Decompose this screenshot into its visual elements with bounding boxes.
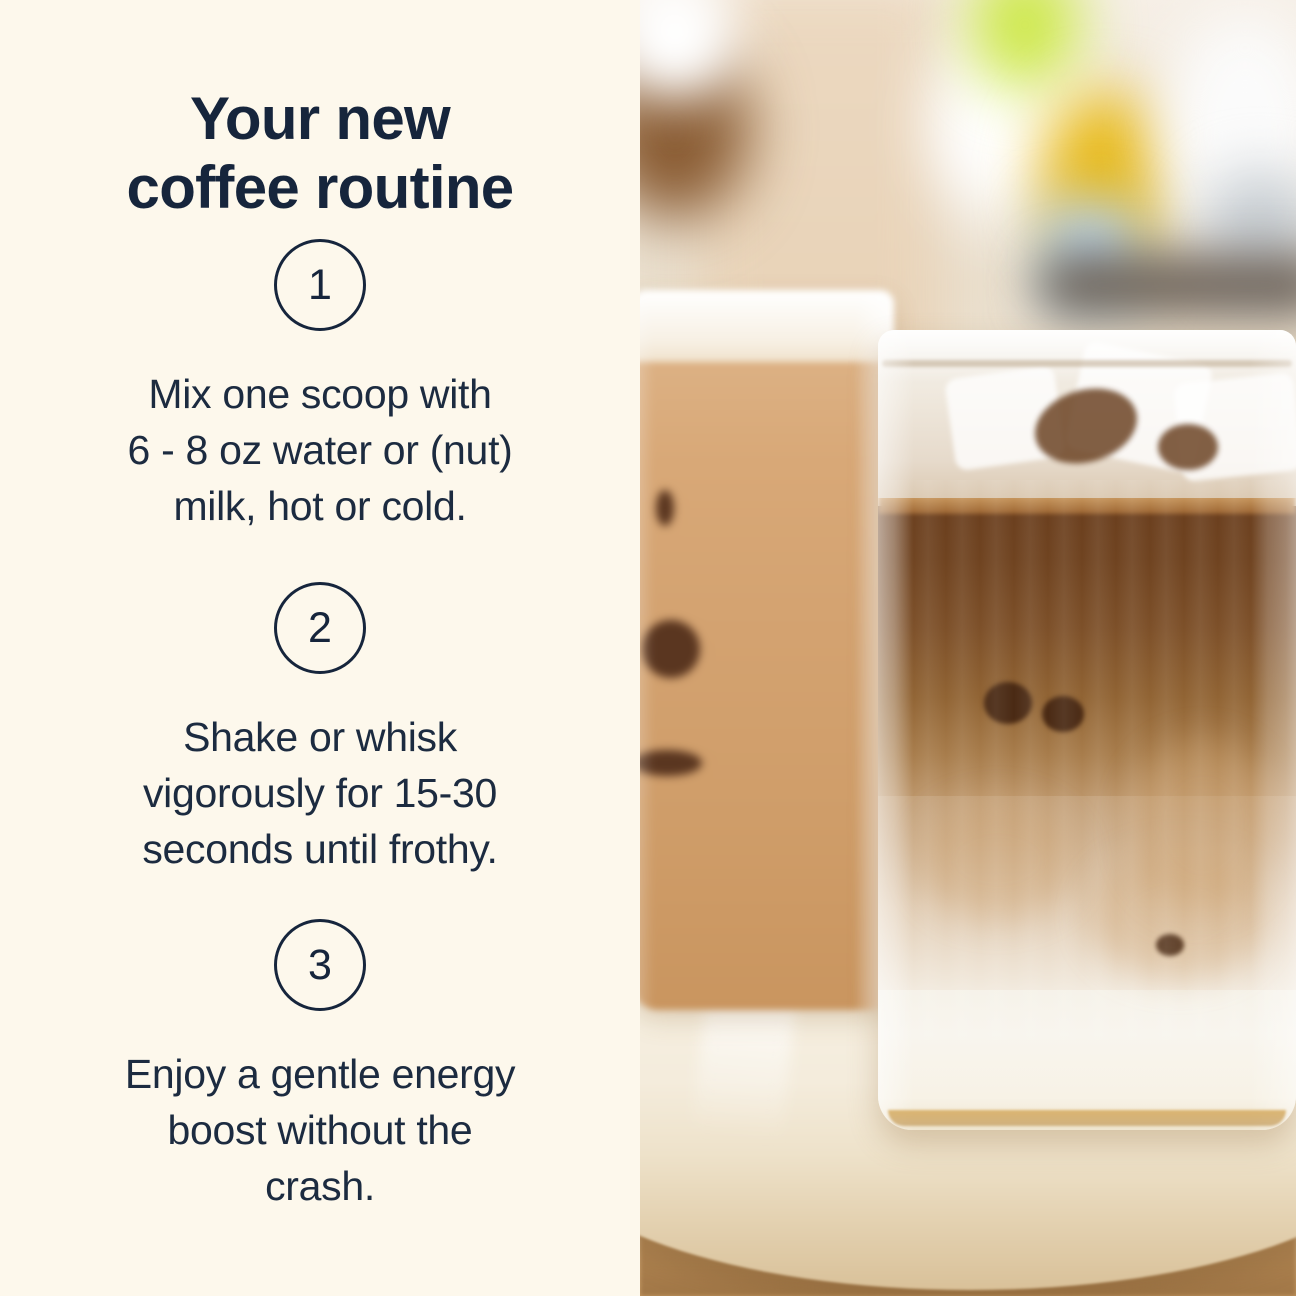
step-description-3-line-3: crash. — [85, 1158, 555, 1214]
step-description-1-line-3: milk, hot or cold. — [85, 478, 555, 534]
poster-canvas: Your new coffee routine 1 Mix one scoop … — [0, 0, 1296, 1296]
page-title-line-1: Your new — [0, 84, 640, 153]
photo-front-glass-left-highlight — [878, 330, 914, 1130]
step-description-2-line-3: seconds until frothy. — [85, 821, 555, 877]
photo-ice-coffee-shadow — [1158, 424, 1218, 470]
step-description-1-line-2: 6 - 8 oz water or (nut) — [85, 422, 555, 478]
step-description-2: Shake or whisk vigorously for 15-30 seco… — [85, 709, 555, 877]
step-number-badge-2: 2 — [274, 582, 366, 674]
page-title-line-2: coffee routine — [0, 153, 640, 222]
step-description-3-line-2: boost without the — [85, 1102, 555, 1158]
step-description-3-line-1: Enjoy a gentle energy — [85, 1046, 555, 1102]
photo-back-glass-left-highlight — [640, 290, 654, 1010]
instructions-panel: Your new coffee routine 1 Mix one scoop … — [0, 0, 640, 1296]
step-item-1: 1 Mix one scoop with 6 - 8 oz water or (… — [0, 239, 640, 534]
photo-front-glass-base — [888, 1110, 1286, 1126]
step-description-1-line-1: Mix one scoop with — [85, 366, 555, 422]
step-item-3: 3 Enjoy a gentle energy boost without th… — [0, 919, 640, 1214]
photo-glass-vertical-streaks — [878, 480, 1296, 1040]
photo-front-glass-rim — [878, 330, 1296, 382]
step-description-2-line-1: Shake or whisk — [85, 709, 555, 765]
step-description-1: Mix one scoop with 6 - 8 oz water or (nu… — [85, 366, 555, 534]
step-number-badge-1: 1 — [274, 239, 366, 331]
step-number-badge-3: 3 — [274, 919, 366, 1011]
step-description-3: Enjoy a gentle energy boost without the … — [85, 1046, 555, 1214]
photo-coffee-bean-spot — [656, 490, 674, 526]
step-item-2: 2 Shake or whisk vigorously for 15-30 se… — [0, 582, 640, 877]
step-description-2-line-2: vigorously for 15-30 — [85, 765, 555, 821]
product-photo — [640, 0, 1296, 1296]
photo-front-glass-right-highlight — [1250, 330, 1296, 1130]
photo-back-latte-glass — [640, 290, 894, 1010]
photo-background-dark-band — [1040, 255, 1296, 315]
page-title: Your new coffee routine — [0, 84, 640, 222]
photo-front-glass-rim-line — [882, 360, 1292, 367]
photo-front-iced-latte-glass — [878, 330, 1296, 1130]
